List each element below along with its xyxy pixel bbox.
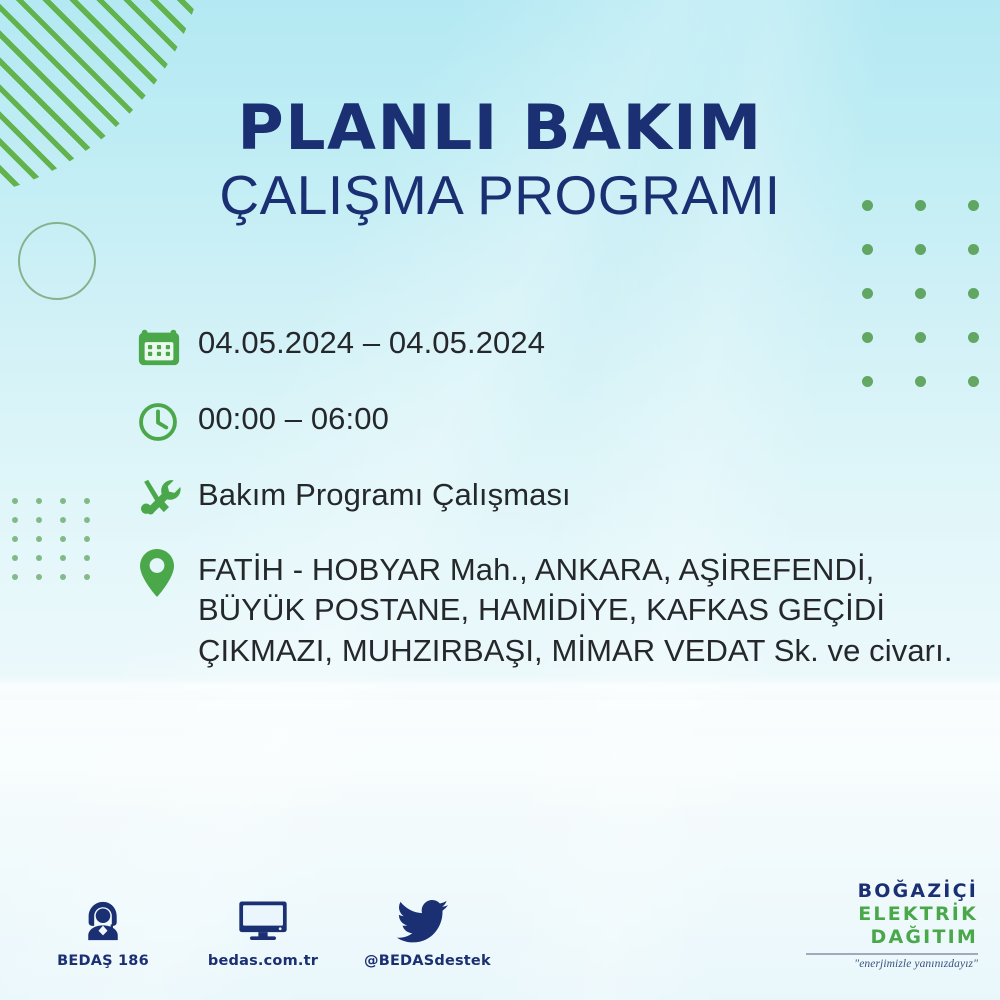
info-row-date: 04.05.2024 – 04.05.2024 bbox=[136, 318, 976, 374]
calendar-icon bbox=[136, 318, 198, 374]
brand-tagline: "enerjimizle yanınızdayız" bbox=[798, 958, 978, 970]
brand-line-3: DAĞITIM bbox=[798, 926, 978, 949]
page-title: PLANLI BAKIM bbox=[0, 96, 1000, 159]
background-band-fade bbox=[0, 700, 1000, 820]
brand-logo: BOĞAZİÇİ ELEKTRİK DAĞITIM "enerjimizle y… bbox=[798, 880, 978, 970]
info-row-address: FATİH - HOBYAR Mah., ANKARA, AŞİREFENDİ,… bbox=[136, 548, 976, 671]
contact-twitter[interactable]: @BEDASdestek bbox=[364, 888, 482, 969]
address-text: FATİH - HOBYAR Mah., ANKARA, AŞİREFENDİ,… bbox=[198, 548, 976, 671]
work-type-text: Bakım Programı Çalışması bbox=[198, 470, 571, 513]
support-agent-icon bbox=[44, 888, 162, 944]
brand-line-1: BOĞAZİÇİ bbox=[798, 880, 978, 903]
contact-twitter-label: @BEDASdestek bbox=[364, 953, 482, 969]
planned-maintenance-poster: PLANLI BAKIM ÇALIŞMA PROGRAMI bbox=[0, 0, 1000, 1000]
monitor-icon bbox=[204, 888, 322, 944]
clock-icon bbox=[136, 394, 198, 450]
page-subtitle: ÇALIŞMA PROGRAMI bbox=[0, 165, 1000, 227]
contact-phone-label: BEDAŞ 186 bbox=[44, 953, 162, 969]
location-pin-icon bbox=[136, 548, 198, 598]
circle-outline-decoration bbox=[18, 222, 96, 300]
tools-icon bbox=[136, 470, 198, 526]
dot-grid-left-decoration bbox=[12, 498, 108, 593]
contact-strip: BEDAŞ 186 bedas.com.tr @BEDASdestek bbox=[44, 888, 482, 969]
info-row-work-type: Bakım Programı Çalışması bbox=[136, 470, 976, 526]
date-range-text: 04.05.2024 – 04.05.2024 bbox=[198, 318, 545, 361]
brand-divider bbox=[806, 953, 978, 955]
info-row-time: 00:00 – 06:00 bbox=[136, 394, 976, 450]
time-range-text: 00:00 – 06:00 bbox=[198, 394, 389, 437]
info-list: 04.05.2024 – 04.05.2024 00:00 – 06:00 bbox=[136, 318, 976, 687]
contact-phone[interactable]: BEDAŞ 186 bbox=[44, 888, 162, 969]
contact-website[interactable]: bedas.com.tr bbox=[204, 888, 322, 969]
poster-title-block: PLANLI BAKIM ÇALIŞMA PROGRAMI bbox=[0, 96, 1000, 227]
brand-line-2: ELEKTRİK bbox=[798, 903, 978, 926]
twitter-bird-icon bbox=[364, 888, 482, 944]
contact-website-label: bedas.com.tr bbox=[204, 953, 322, 969]
